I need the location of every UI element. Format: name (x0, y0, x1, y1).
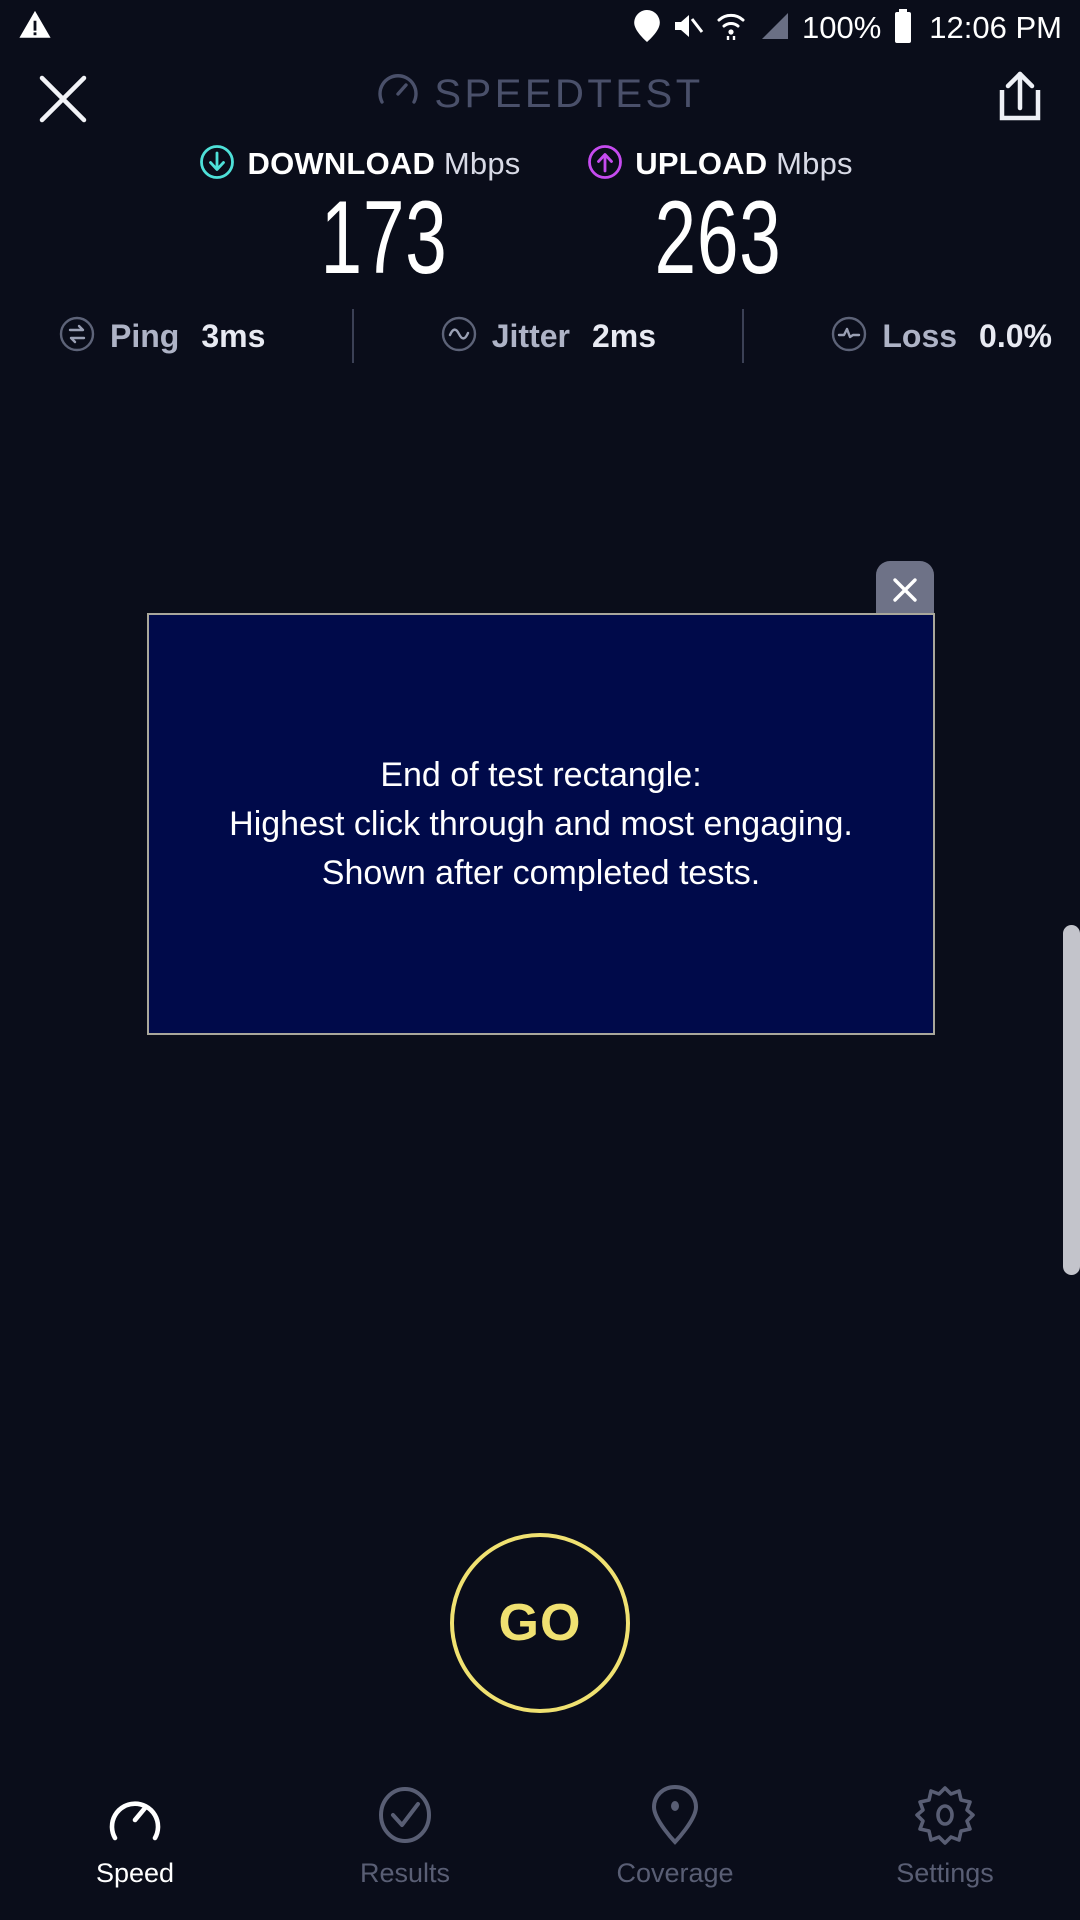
jitter-icon (440, 315, 478, 358)
app-header: SPEEDTEST (0, 56, 1080, 140)
jitter-label: Jitter (492, 318, 570, 355)
cellular-signal-icon (758, 11, 790, 46)
upload-unit: Mbps (776, 146, 853, 181)
nav-label-results: Results (360, 1858, 450, 1889)
scrollbar-thumb[interactable] (1063, 925, 1080, 1275)
speedtest-app-screen: 100% 12:06 PM SPEEDTEST (0, 0, 1080, 1920)
ping-label: Ping (110, 318, 179, 355)
ping-value: 3ms (201, 318, 265, 355)
advertisement-banner[interactable]: End of test rectangle: Highest click thr… (147, 613, 935, 1035)
download-label: DOWNLOAD (247, 146, 435, 181)
loss-label: Loss (882, 318, 957, 355)
nav-label-settings: Settings (896, 1858, 994, 1889)
upload-value: 263 (587, 184, 849, 292)
nav-item-coverage[interactable]: Coverage (540, 1768, 810, 1889)
ad-text: End of test rectangle: Highest click thr… (229, 751, 853, 898)
download-value: 173 (272, 184, 497, 292)
result-summary: DOWNLOAD Mbps 173 UPLOAD (0, 140, 1080, 292)
go-button[interactable]: GO (450, 1533, 630, 1713)
ad-close-button[interactable] (876, 561, 934, 619)
download-arrow-icon (199, 144, 235, 185)
app-logo: SPEEDTEST (0, 70, 1080, 119)
loss-value: 0.0% (979, 318, 1052, 355)
status-bar-clock: 12:06 PM (929, 10, 1062, 46)
volume-muted-icon (672, 11, 704, 46)
nav-label-speed: Speed (96, 1858, 174, 1889)
metric-divider (742, 309, 744, 363)
battery-full-icon (893, 9, 913, 48)
status-bar: 100% 12:06 PM (0, 0, 1080, 56)
speedometer-icon (105, 1784, 165, 1846)
speedometer-icon (376, 70, 420, 119)
metric-divider (352, 309, 354, 363)
upload-result: UPLOAD Mbps 263 (540, 140, 900, 292)
nav-item-settings[interactable]: Settings (810, 1768, 1080, 1889)
share-icon[interactable] (992, 68, 1048, 126)
battery-percent-label: 100% (802, 10, 881, 46)
jitter-value: 2ms (592, 318, 656, 355)
metric-jitter: Jitter 2ms (440, 300, 656, 372)
bottom-navigation: Speed Results Coverage (0, 1768, 1080, 1920)
loss-icon (830, 315, 868, 358)
location-pin-icon (650, 1784, 700, 1846)
status-bar-right: 100% 12:06 PM (634, 0, 1062, 56)
nav-label-coverage: Coverage (616, 1858, 733, 1889)
connection-metrics: Ping 3ms Jitter 2ms (0, 300, 1080, 372)
go-button-label: GO (499, 1593, 582, 1653)
nav-item-speed[interactable]: Speed (0, 1768, 270, 1889)
check-circle-icon (376, 1784, 434, 1846)
ping-icon (58, 315, 96, 358)
upload-arrow-icon (587, 144, 623, 185)
metric-ping: Ping 3ms (58, 300, 265, 372)
page-title: SPEEDTEST (434, 72, 703, 117)
warning-triangle-icon (18, 8, 52, 47)
download-result: DOWNLOAD Mbps 173 (180, 140, 540, 292)
download-unit: Mbps (444, 146, 521, 181)
upload-label: UPLOAD (635, 146, 767, 181)
nav-item-results[interactable]: Results (270, 1768, 540, 1889)
metric-loss: Loss 0.0% (830, 300, 1052, 372)
location-pin-icon (634, 10, 660, 47)
wifi-icon (716, 10, 746, 47)
gear-icon (914, 1784, 976, 1846)
